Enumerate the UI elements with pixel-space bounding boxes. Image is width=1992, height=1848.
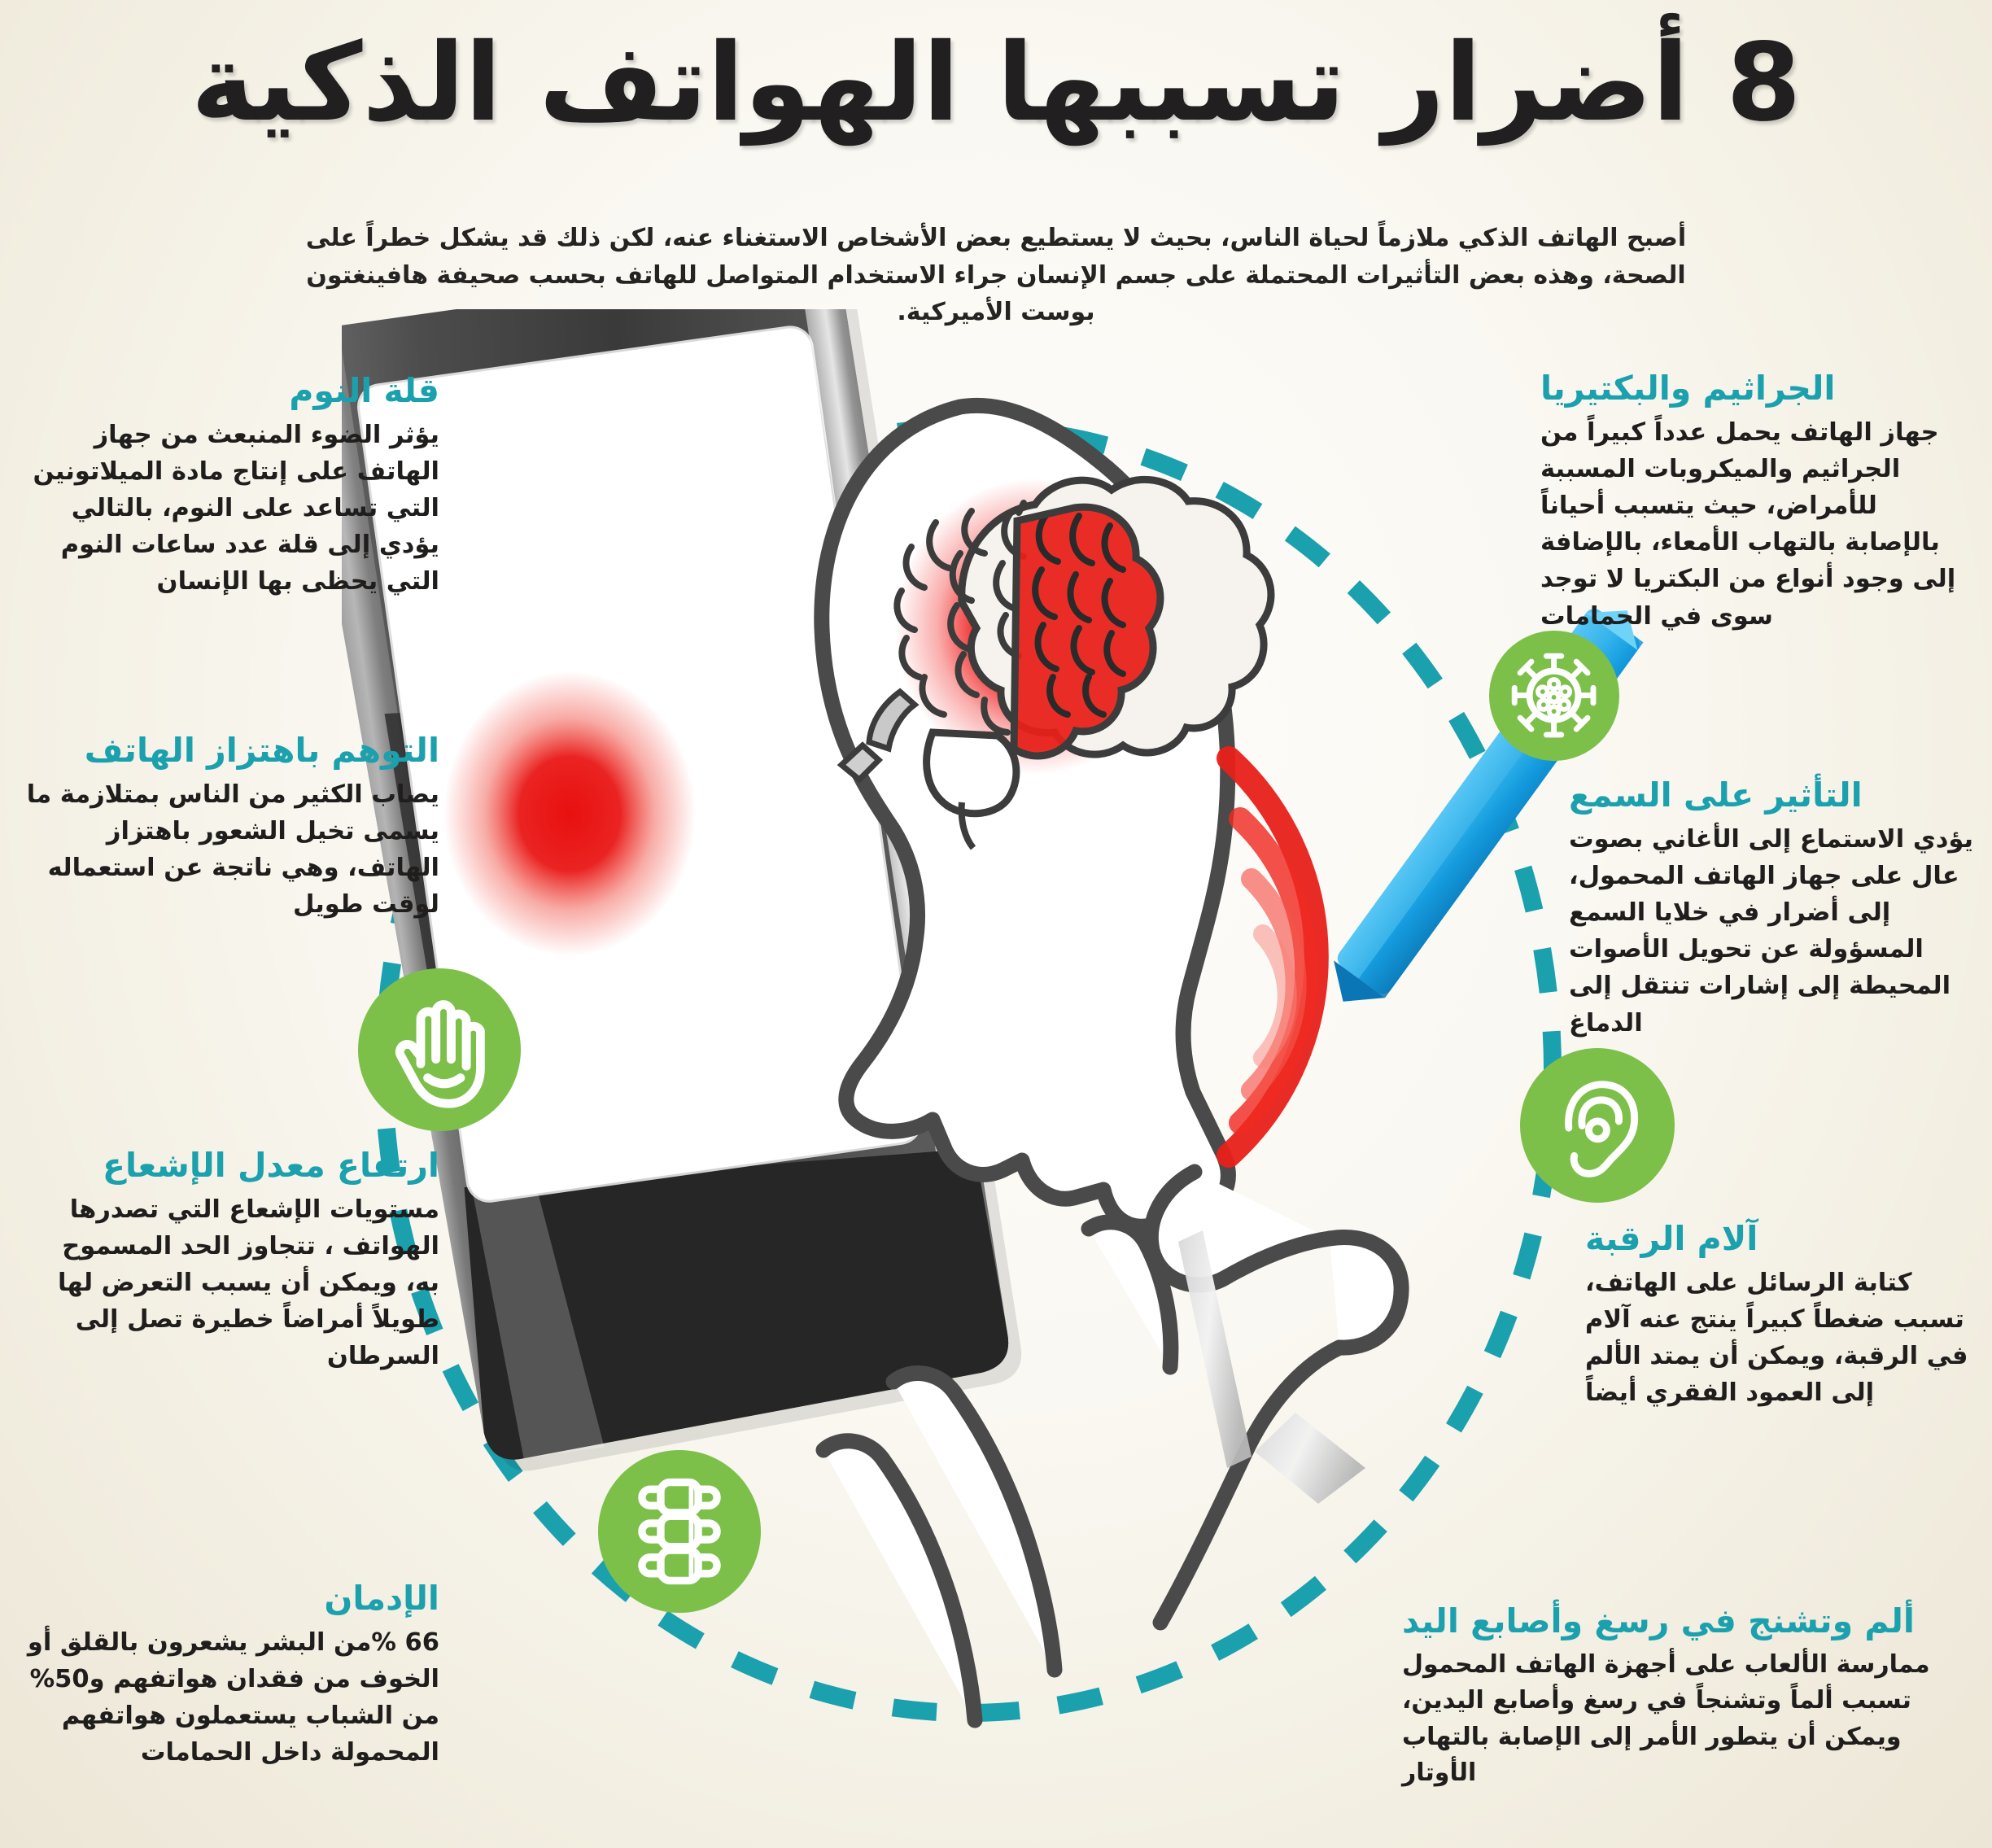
info-block-hearing-heading: التأثير على السمع [1569,777,1976,815]
info-block-wrist-pain: ألم وتشنج في رسغ وأصابع اليد ممارسة الأل… [1402,1603,1976,1791]
info-block-radiation: ارتفاع معدل الإشعاع مستويات الإشعاع التي… [24,1147,439,1375]
info-block-germs-body: جهاز الهاتف يحمل عدداً كبيراً من الجراثي… [1540,414,1976,635]
info-block-wrist-pain-heading: ألم وتشنج في رسغ وأصابع اليد [1402,1603,1976,1640]
red-sound-waves [1229,758,1317,1156]
info-block-neck-pain-body: كتابة الرسائل على الهاتف، تسبب ضغطاً كبي… [1585,1265,1976,1412]
info-block-radiation-body: مستويات الإشعاع التي تصدرها الهواتف ، تت… [24,1191,439,1375]
info-block-phantom-vibration-heading: التوهم باهتزاز الهاتف [24,732,439,770]
info-block-wrist-pain-body: ممارسة الألعاب على أجهزة الهاتف المحمول … [1402,1647,1976,1792]
info-block-germs: الجراثيم والبكتيريا جهاز الهاتف يحمل عدد… [1540,370,1976,635]
info-block-neck-pain: آلام الرقبة كتابة الرسائل على الهاتف، تس… [1585,1221,1976,1411]
info-block-hearing: التأثير على السمع يؤدي الاستماع إلى الأغ… [1569,777,1976,1042]
info-block-neck-pain-heading: آلام الرقبة [1585,1221,1976,1258]
page-title: 8 أضرار تسببها الهواتف الذكية [0,15,1992,152]
red-pain-glow-neck-2 [443,671,696,956]
info-block-germs-heading: الجراثيم والبكتيريا [1540,370,1976,408]
info-block-sleep-body: يؤثر الضوء المنبعث من جهاز الهاتف على إن… [24,417,439,601]
hand-icon [358,968,521,1131]
info-block-phantom-vibration-body: يصاب الكثير من الناس بمتلازمة ما يسمى تخ… [24,776,439,924]
info-block-sleep: قلة النوم يؤثر الضوء المنبعث من جهاز اله… [24,373,439,601]
info-block-addiction-heading: الإدمان [24,1580,439,1618]
ear-icon [1520,1048,1675,1203]
info-block-addiction-body: 66 %من البشر يشعرون بالقلق أو الخوف من ف… [24,1624,439,1772]
header: 8 أضرار تسببها الهواتف الذكية أصبح الهات… [0,0,1992,342]
virus-icon [1489,631,1619,761]
info-block-sleep-heading: قلة النوم [24,373,439,410]
spine-icon [598,1450,761,1613]
info-block-radiation-heading: ارتفاع معدل الإشعاع [24,1147,439,1185]
info-block-phantom-vibration: التوهم باهتزاز الهاتف يصاب الكثير من الن… [24,732,439,923]
info-block-hearing-body: يؤدي الاستماع إلى الأغاني بصوت عال على ج… [1569,821,1976,1042]
info-block-addiction: الإدمان 66 %من البشر يشعرون بالقلق أو ال… [24,1580,439,1771]
